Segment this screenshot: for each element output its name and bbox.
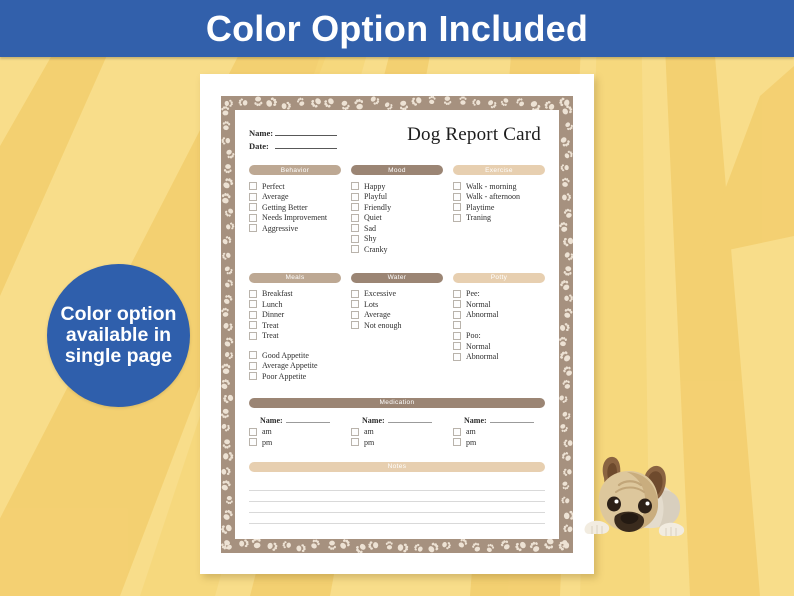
section-header-behavior: Behavior	[249, 165, 341, 175]
list-item[interactable]: Friendly	[351, 202, 443, 213]
option-label: Good Appetite	[262, 351, 309, 360]
list-item[interactable]: Walk - afternoon	[453, 192, 545, 203]
section-header-potty: Potty	[453, 273, 545, 283]
checkbox-icon[interactable]	[351, 245, 359, 253]
option-label: Sad	[364, 224, 376, 233]
option-label: Treat	[262, 321, 279, 330]
section-meals: Meals Breakfast Lunch Dinner Treat Treat…	[249, 273, 341, 382]
section-header-water: Water	[351, 273, 443, 283]
medication-entries: Name: am pm Name: am pm	[249, 415, 545, 448]
section-row-two: Meals Breakfast Lunch Dinner Treat Treat…	[249, 273, 545, 382]
list-item[interactable]: Traning	[453, 213, 545, 224]
option-label: Quiet	[364, 213, 382, 222]
option-label: pm	[466, 438, 476, 447]
notes-line[interactable]	[249, 480, 545, 491]
notes-lines[interactable]	[249, 480, 545, 524]
list-item[interactable]: pm	[249, 437, 341, 448]
list-item[interactable]: Good Appetite	[249, 350, 341, 361]
checkbox-icon[interactable]	[453, 321, 461, 329]
checkbox-icon[interactable]	[249, 321, 257, 329]
checkbox-icon[interactable]	[351, 290, 359, 298]
option-label: Dinner	[262, 310, 284, 319]
notes-line[interactable]	[249, 502, 545, 513]
checkbox-icon[interactable]	[351, 428, 359, 436]
option-label: Perfect	[262, 182, 285, 191]
list-item[interactable]: Average	[249, 192, 341, 203]
medication-name-row[interactable]: Name:	[260, 415, 341, 425]
list-item[interactable]: am	[453, 427, 545, 438]
medication-name-label: Name:	[464, 416, 487, 425]
checkbox-icon[interactable]	[249, 351, 257, 359]
list-item[interactable]: Perfect	[249, 181, 341, 192]
list-item[interactable]: Lunch	[249, 299, 341, 310]
medication-entry: Name: am pm	[453, 415, 545, 448]
list-item[interactable]: Normal	[453, 341, 545, 352]
checkbox-icon[interactable]	[249, 332, 257, 340]
option-label: Friendly	[364, 203, 391, 212]
list-item[interactable]: Average	[351, 310, 443, 321]
section-header-medication: Medication	[249, 398, 545, 408]
option-label: Normal	[466, 342, 490, 351]
option-label: Breakfast	[262, 289, 293, 298]
option-label: am	[466, 427, 476, 436]
options-exercise: Walk - morning Walk - afternoon Playtime…	[453, 181, 545, 223]
checkbox-icon[interactable]	[453, 182, 461, 190]
list-item[interactable]: Playtime	[453, 202, 545, 213]
list-item[interactable]: Average Appetite	[249, 361, 341, 372]
list-item[interactable]: Treat	[249, 320, 341, 331]
checkbox-icon[interactable]	[249, 182, 257, 190]
options-meals: Breakfast Lunch Dinner Treat Treat Good …	[249, 289, 341, 382]
medication-name-row[interactable]: Name:	[464, 415, 545, 425]
section-header-mood: Mood	[351, 165, 443, 175]
section-water: Water Excessive Lots Average Not enough	[351, 273, 443, 382]
checkbox-icon[interactable]	[453, 203, 461, 211]
section-potty: Potty Pee: Normal Abnormal Poo: Normal A…	[453, 273, 545, 382]
page-title: Dog Report Card	[407, 124, 545, 146]
checkbox-icon[interactable]	[351, 300, 359, 308]
option-label: Lots	[364, 300, 378, 309]
options-potty: Pee: Normal Abnormal Poo: Normal Abnorma…	[453, 289, 545, 363]
list-item[interactable]: Breakfast	[249, 289, 341, 300]
list-item[interactable]: Poo:	[453, 331, 545, 342]
card-header: Name: Date: Dog Report Card	[249, 124, 545, 157]
checkbox-icon[interactable]	[453, 290, 461, 298]
spacer	[249, 341, 341, 350]
option-label: Traning	[466, 213, 491, 222]
list-item[interactable]: Not enough	[351, 320, 443, 331]
single-page-badge: Color option available in single page	[47, 264, 190, 407]
checkbox-icon[interactable]	[351, 311, 359, 319]
section-header-notes: Notes	[249, 462, 545, 472]
option-label: Poor Appetite	[262, 372, 306, 381]
name-label: Name:	[249, 128, 275, 138]
dog-report-card-page: Name: Date: Dog Report Card Behavior Per…	[200, 74, 594, 574]
date-input-rule[interactable]	[275, 140, 337, 149]
list-item[interactable]: Lots	[351, 299, 443, 310]
list-item[interactable]: pm	[351, 437, 443, 448]
notes-line[interactable]	[249, 513, 545, 524]
checkbox-icon[interactable]	[351, 214, 359, 222]
list-item[interactable]: Getting Better	[249, 202, 341, 213]
option-label: Not enough	[364, 321, 402, 330]
option-label: am	[364, 427, 374, 436]
medication-name-label: Name:	[362, 416, 385, 425]
list-item[interactable]: Happy	[351, 181, 443, 192]
list-item[interactable]: Dinner	[249, 310, 341, 321]
option-label: Happy	[364, 182, 385, 191]
french-bulldog-illustration	[575, 448, 710, 558]
section-mood: Mood Happy Playful Friendly Quiet Sad Sh…	[351, 165, 443, 255]
checkbox-icon[interactable]	[249, 203, 257, 211]
checkbox-icon[interactable]	[453, 342, 461, 350]
option-label: Playful	[364, 192, 387, 201]
option-label: Getting Better	[262, 203, 308, 212]
option-label: Shy	[364, 234, 376, 243]
medication-name-row[interactable]: Name:	[362, 415, 443, 425]
option-label: Walk - morning	[466, 182, 516, 191]
checkbox-icon[interactable]	[351, 321, 359, 329]
checkbox-icon[interactable]	[453, 193, 461, 201]
list-item[interactable]: Needs Improvement	[249, 213, 341, 224]
option-label: Abnormal	[466, 352, 498, 361]
option-label: Needs Improvement	[262, 213, 327, 222]
option-label: pm	[262, 438, 272, 447]
list-item[interactable]: am	[351, 427, 443, 438]
section-row-one: Behavior Perfect Average Getting Better …	[249, 165, 545, 255]
checkbox-icon[interactable]	[351, 182, 359, 190]
badge-label: Color option available in single page	[47, 304, 190, 367]
section-medication: Medication Name: am pm Name:	[249, 398, 545, 448]
checkbox-icon[interactable]	[249, 224, 257, 232]
option-label: Average	[262, 192, 289, 201]
checkbox-icon[interactable]	[351, 224, 359, 232]
checkbox-icon[interactable]	[249, 362, 257, 370]
checkbox-icon[interactable]	[249, 290, 257, 298]
list-item[interactable]: Normal	[453, 299, 545, 310]
checkbox-icon[interactable]	[453, 332, 461, 340]
checkbox-icon[interactable]	[453, 353, 461, 361]
product-mockup-canvas: Color Option Included Color option avail…	[0, 0, 794, 596]
option-label: Average Appetite	[262, 361, 318, 370]
header-banner: Color Option Included	[0, 0, 794, 57]
option-label: Playtime	[466, 203, 494, 212]
checkbox-icon[interactable]	[351, 438, 359, 446]
checkbox-icon[interactable]	[249, 193, 257, 201]
option-label: pm	[364, 438, 374, 447]
checkbox-icon[interactable]	[453, 428, 461, 436]
name-input-rule[interactable]	[275, 127, 337, 136]
list-item[interactable]: Playful	[351, 192, 443, 203]
checkbox-icon[interactable]	[351, 235, 359, 243]
medication-name-rule[interactable]	[490, 415, 534, 423]
report-card-content: Name: Date: Dog Report Card Behavior Per…	[249, 124, 545, 528]
list-item[interactable]: Treat	[249, 331, 341, 342]
list-item[interactable]: Quiet	[351, 213, 443, 224]
checkbox-icon[interactable]	[453, 214, 461, 222]
options-behavior: Perfect Average Getting Better Needs Imp…	[249, 181, 341, 234]
checkbox-icon[interactable]	[351, 193, 359, 201]
options-mood: Happy Playful Friendly Quiet Sad Shy Cra…	[351, 181, 443, 255]
name-field-row[interactable]: Name:	[249, 127, 337, 138]
checkbox-icon[interactable]	[249, 214, 257, 222]
medication-entry: Name: am pm	[249, 415, 341, 448]
list-item[interactable]: pm	[453, 437, 545, 448]
section-behavior: Behavior Perfect Average Getting Better …	[249, 165, 341, 255]
option-label: Cranky	[364, 245, 388, 254]
section-notes: Notes	[249, 462, 545, 524]
list-item[interactable]: Pee:	[453, 289, 545, 300]
list-item[interactable]: Aggressive	[249, 223, 341, 234]
option-label: am	[262, 427, 272, 436]
name-date-fields: Name: Date:	[249, 124, 337, 153]
notes-line[interactable]	[249, 491, 545, 502]
option-label: Aggressive	[262, 224, 298, 233]
option-label: Pee:	[466, 289, 480, 298]
medication-entry: Name: am pm	[351, 415, 443, 448]
medication-name-rule[interactable]	[286, 415, 330, 423]
list-item[interactable]: Walk - morning	[453, 181, 545, 192]
banner-title: Color Option Included	[206, 8, 588, 50]
checkbox-icon[interactable]	[453, 300, 461, 308]
list-item[interactable]: Excessive	[351, 289, 443, 300]
section-header-meals: Meals	[249, 273, 341, 283]
list-item[interactable]: am	[249, 427, 341, 438]
medication-name-rule[interactable]	[388, 415, 432, 423]
checkbox-icon[interactable]	[453, 438, 461, 446]
date-field-row[interactable]: Date:	[249, 140, 337, 151]
option-label: Poo:	[466, 331, 481, 340]
checkbox-icon[interactable]	[249, 438, 257, 446]
checkbox-icon[interactable]	[249, 372, 257, 380]
option-label: Walk - afternoon	[466, 192, 520, 201]
checkbox-icon[interactable]	[249, 428, 257, 436]
section-exercise: Exercise Walk - morning Walk - afternoon…	[453, 165, 545, 255]
date-label: Date:	[249, 141, 275, 151]
list-item[interactable]: Sad	[351, 223, 443, 234]
list-item[interactable]: Cranky	[351, 244, 443, 255]
list-item[interactable]: Abnormal	[453, 310, 545, 321]
checkbox-icon[interactable]	[249, 300, 257, 308]
option-label: Average	[364, 310, 391, 319]
option-label: Lunch	[262, 300, 282, 309]
medication-name-label: Name:	[260, 416, 283, 425]
list-item[interactable]: Poor Appetite	[249, 371, 341, 382]
option-label: Abnormal	[466, 310, 498, 319]
checkbox-icon[interactable]	[351, 203, 359, 211]
checkbox-icon[interactable]	[249, 311, 257, 319]
option-label: Normal	[466, 300, 490, 309]
option-label: Excessive	[364, 289, 396, 298]
options-water: Excessive Lots Average Not enough	[351, 289, 443, 331]
option-label: Treat	[262, 331, 279, 340]
list-item[interactable]	[453, 320, 545, 331]
section-header-exercise: Exercise	[453, 165, 545, 175]
list-item[interactable]: Abnormal	[453, 352, 545, 363]
list-item[interactable]: Shy	[351, 234, 443, 245]
checkbox-icon[interactable]	[453, 311, 461, 319]
